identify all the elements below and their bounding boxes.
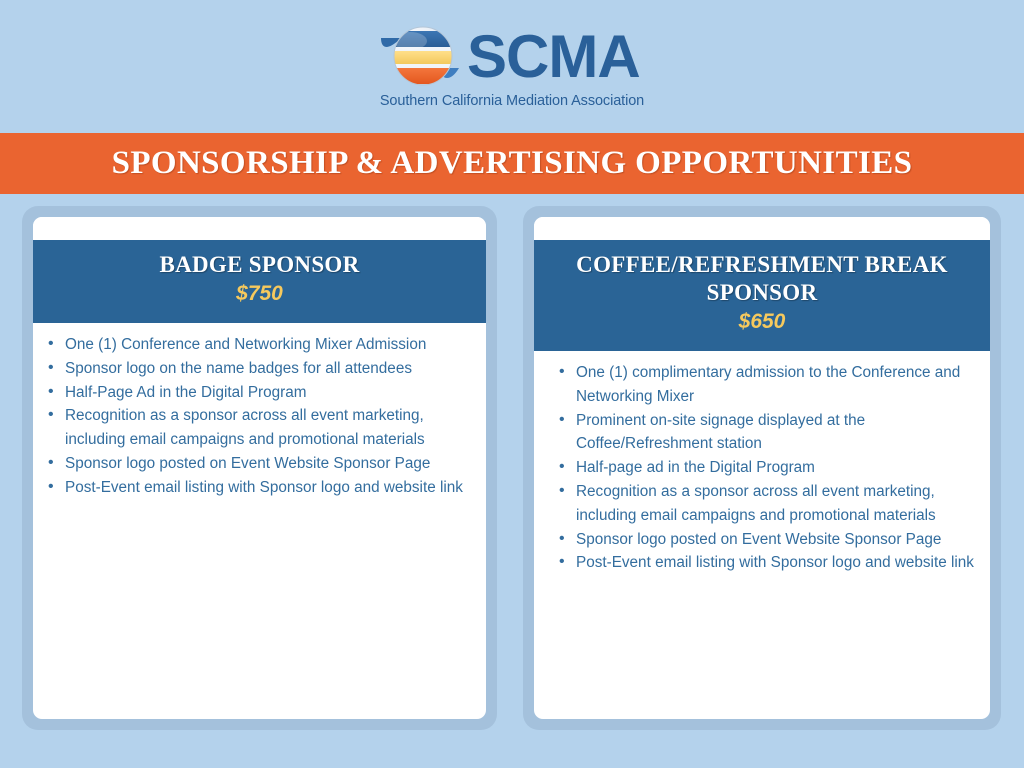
card-benefits: One (1) complimentary admission to the C…	[534, 351, 990, 575]
card-title: COFFEE/REFRESHMENT BREAK SPONSOR	[548, 251, 976, 307]
card-inner: COFFEE/REFRESHMENT BREAK SPONSOR $650 On…	[534, 217, 990, 719]
list-item: Half-Page Ad in the Digital Program	[37, 381, 472, 405]
card-price: $650	[548, 308, 976, 335]
sponsorship-card-coffee-break[interactable]: COFFEE/REFRESHMENT BREAK SPONSOR $650 On…	[523, 206, 1001, 730]
card-price: $750	[47, 280, 472, 307]
card-title: BADGE SPONSOR	[47, 251, 472, 279]
list-item: Half-page ad in the Digital Program	[548, 456, 980, 480]
card-header: COFFEE/REFRESHMENT BREAK SPONSOR $650	[534, 240, 990, 351]
card-header: BADGE SPONSOR $750	[33, 240, 486, 323]
list-item: Prominent on-site signage displayed at t…	[548, 409, 980, 457]
scma-globe-logo-icon	[379, 20, 465, 92]
card-top-spacer	[534, 217, 990, 240]
brand-lockup: SCMA Southern California Mediation Assoc…	[379, 16, 645, 118]
banner-title: SPONSORSHIP & ADVERTISING OPPORTUNITIES	[112, 145, 913, 182]
list-item: One (1) Conference and Networking Mixer …	[37, 333, 472, 357]
benefit-list: One (1) complimentary admission to the C…	[548, 361, 980, 575]
list-item: Sponsor logo posted on Event Website Spo…	[37, 452, 472, 476]
sponsorship-cards: BADGE SPONSOR $750 One (1) Conference an…	[0, 203, 1024, 733]
list-item: Recognition as a sponsor across all even…	[548, 480, 980, 528]
logo-row: SCMA	[379, 16, 645, 96]
benefit-list: One (1) Conference and Networking Mixer …	[37, 333, 472, 500]
list-item: Sponsor logo posted on Event Website Spo…	[548, 528, 980, 552]
brand-acronym: SCMA	[467, 27, 640, 87]
brand-tagline: Southern California Mediation Associatio…	[379, 93, 645, 109]
list-item: Recognition as a sponsor across all even…	[37, 404, 472, 452]
list-item: Post-Event email listing with Sponsor lo…	[548, 551, 980, 575]
list-item: Post-Event email listing with Sponsor lo…	[37, 476, 472, 500]
sponsorship-card-badge[interactable]: BADGE SPONSOR $750 One (1) Conference an…	[22, 206, 497, 730]
card-top-spacer	[33, 217, 486, 240]
list-item: One (1) complimentary admission to the C…	[548, 361, 980, 409]
title-banner: SPONSORSHIP & ADVERTISING OPPORTUNITIES	[0, 133, 1024, 194]
sponsorship-slide: SCMA Southern California Mediation Assoc…	[0, 0, 1024, 768]
card-inner: BADGE SPONSOR $750 One (1) Conference an…	[33, 217, 486, 719]
brand-header: SCMA Southern California Mediation Assoc…	[0, 0, 1024, 133]
list-item: Sponsor logo on the name badges for all …	[37, 357, 472, 381]
card-benefits: One (1) Conference and Networking Mixer …	[33, 323, 486, 500]
